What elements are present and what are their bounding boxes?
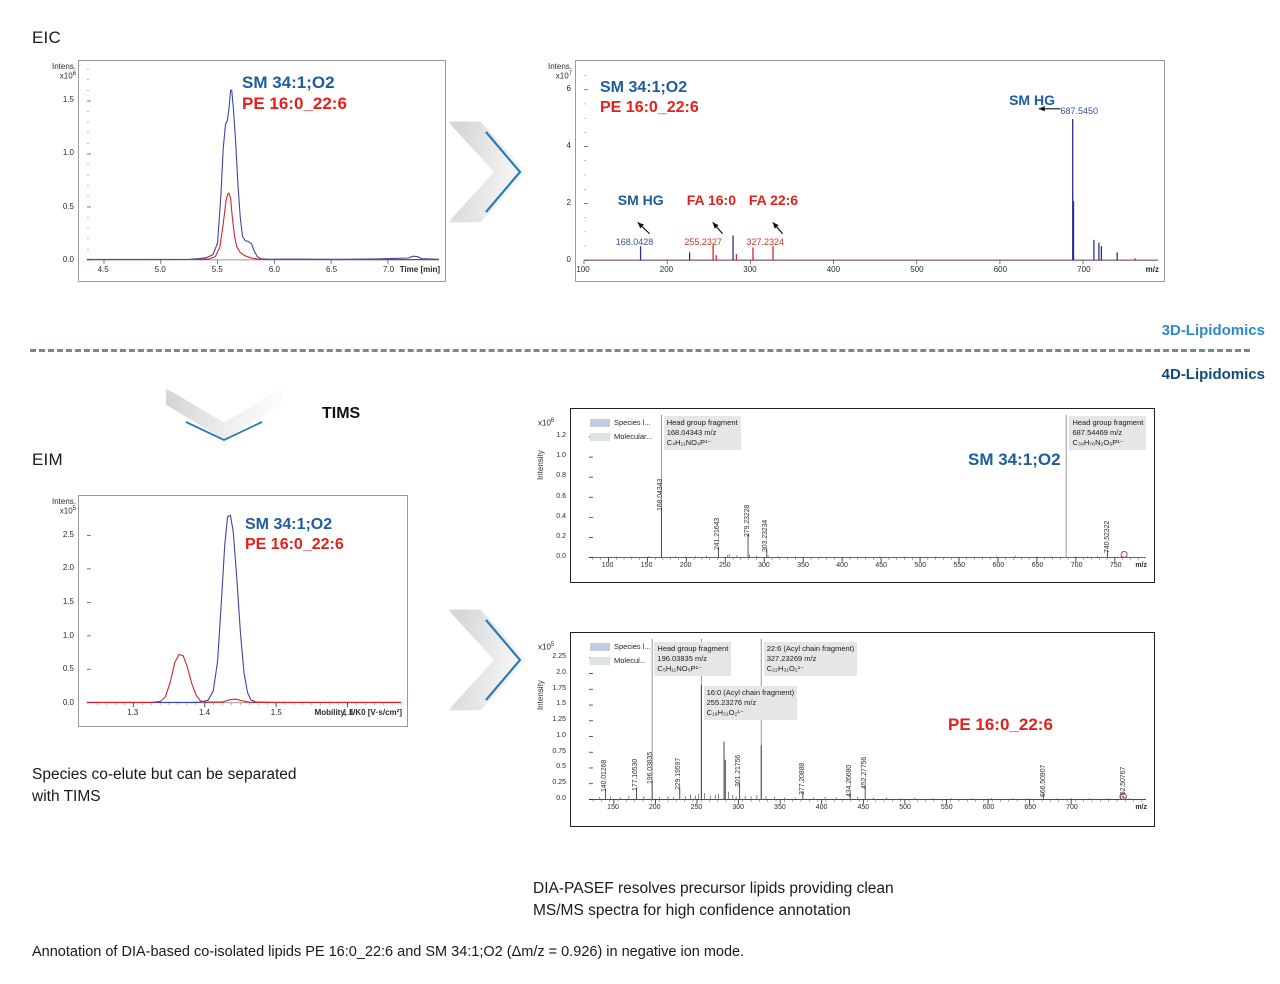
pe-xtick-450: 450 bbox=[851, 804, 875, 811]
pe-xtick-400: 400 bbox=[810, 804, 834, 811]
ms-yaxis-label: Intens. bbox=[548, 62, 572, 71]
ms-annotation-label-2: FA 22:6 bbox=[749, 192, 798, 208]
chevron-down-tims bbox=[158, 388, 290, 444]
ms-yaxis-title: Intens. x107 bbox=[530, 62, 572, 81]
chevron-right-bottom-icon bbox=[448, 600, 544, 720]
ms-xaxis-label: m/z bbox=[1125, 265, 1159, 274]
eic-xtick-5.0: 5.0 bbox=[148, 265, 172, 274]
sm-callout-0-formula: C₄H₁₁NO₄P¹⁻ bbox=[667, 438, 738, 448]
pe-peak-label-229.19597: 229.19597 bbox=[675, 758, 682, 790]
sm-ytick-1.2: 1.2 bbox=[550, 432, 566, 439]
eim-yaxis-exp: 5 bbox=[73, 506, 76, 512]
eim-chart-panel bbox=[78, 495, 408, 727]
eim-xtick-1.3: 1.3 bbox=[121, 708, 145, 717]
eic-xtick-4.5: 4.5 bbox=[91, 265, 115, 274]
ms-species-sm: SM 34:1;O2 bbox=[600, 78, 699, 98]
sm-yaxis-label: Intensity bbox=[536, 450, 545, 480]
pe-peak-label-762.50767: 762.50767 bbox=[1120, 767, 1127, 799]
eic-yaxis-exp: 6 bbox=[73, 71, 76, 77]
pe-ytick-1.5: 1.5 bbox=[546, 700, 566, 707]
pe-xtick-600: 600 bbox=[976, 804, 1000, 811]
eim-ytick-1.5: 1.5 bbox=[50, 597, 74, 606]
pe-yaxis-label: Intensity bbox=[536, 680, 545, 710]
pe-yaxis-unit: x10 bbox=[538, 643, 551, 652]
pe-xtick-650: 650 bbox=[1018, 804, 1042, 811]
sm-xtick-200: 200 bbox=[674, 562, 698, 569]
ms-species-legend: SM 34:1;O2 PE 16:0_22:6 bbox=[600, 78, 699, 119]
sm-callout-1-formula: C₃₈H₇₆N₂O₆P¹⁻ bbox=[1072, 438, 1143, 448]
tims-label: TIMS bbox=[322, 405, 360, 423]
sm-peak-label-279.23228: 279.23228 bbox=[744, 505, 751, 537]
pe-xtick-500: 500 bbox=[893, 804, 917, 811]
ms-xtick-100: 100 bbox=[569, 265, 597, 274]
ms-xtick-300: 300 bbox=[736, 265, 764, 274]
pe-xtick-550: 550 bbox=[935, 804, 959, 811]
sm-peak-label-740.52322: 740.52322 bbox=[1104, 521, 1111, 553]
eim-species-legend: SM 34:1;O2 PE 16:0_22:6 bbox=[245, 515, 344, 555]
sm-callout-1-mz: 687.54469 m/z bbox=[1072, 428, 1143, 438]
eim-ytick-1.0: 1.0 bbox=[50, 631, 74, 640]
ms-annotation-mz-2: 327.2324 bbox=[746, 237, 784, 247]
pe-msms-species-label: PE 16:0_22:6 bbox=[948, 715, 1053, 735]
ms-yaxis-unit: x10 bbox=[556, 72, 569, 81]
pe-legend-label-species: Species l... bbox=[614, 642, 651, 651]
pe-yaxis-unit-wrap: x105 bbox=[538, 642, 554, 652]
eim-ytick-2.0: 2.0 bbox=[50, 563, 74, 572]
sm-legend-row-species: Species l... bbox=[590, 418, 651, 427]
sm-yaxis-unit: x10 bbox=[538, 419, 551, 428]
sm-xtick-400: 400 bbox=[830, 562, 854, 569]
pe-peak-label-452.27756: 452.27756 bbox=[861, 757, 868, 789]
eic-yaxis-unit: x10 bbox=[60, 72, 73, 81]
sm-peak-label-241.21643: 241.21643 bbox=[714, 518, 721, 550]
sm-xtick-600: 600 bbox=[986, 562, 1010, 569]
eic-xaxis-label: Time [min] bbox=[388, 265, 440, 274]
sm-yaxis-unit-wrap: x106 bbox=[538, 418, 554, 428]
eim-ytick-0.5: 0.5 bbox=[50, 664, 74, 673]
sm-callout-0-title: Head group fragment bbox=[667, 418, 738, 428]
pe-ytick-1.25: 1.25 bbox=[546, 716, 566, 723]
ms-ytick-4: 4 bbox=[553, 141, 571, 150]
sm-ytick-0.4: 0.4 bbox=[550, 513, 566, 520]
figure-caption: Annotation of DIA-based co-isolated lipi… bbox=[32, 944, 1232, 960]
ms-annotation-mz-3: 687.5450 bbox=[1060, 106, 1098, 116]
eic-species-legend: SM 34:1;O2 PE 16:0_22:6 bbox=[242, 72, 347, 115]
eim-xaxis-label: Mobility, 1/K0 [V·s/cm²] bbox=[258, 708, 402, 717]
pe-ytick-0.0: 0.0 bbox=[546, 795, 566, 802]
sm-ytick-0.0: 0.0 bbox=[550, 553, 566, 560]
pe-xtick-150: 150 bbox=[601, 804, 625, 811]
pe-legend-swatch-species bbox=[590, 643, 610, 651]
sm-ytick-1.0: 1.0 bbox=[550, 452, 566, 459]
sm-xtick-650: 650 bbox=[1026, 562, 1050, 569]
eim-species-sm: SM 34:1;O2 bbox=[245, 515, 344, 535]
sm-legend-swatch-molecular bbox=[590, 433, 610, 441]
pe-ytick-2.25: 2.25 bbox=[546, 653, 566, 660]
section-label-eim: EIM bbox=[32, 450, 63, 470]
pe-peak-label-196.03835: 196.03835 bbox=[647, 752, 654, 784]
section-divider bbox=[30, 349, 1250, 352]
pe-legend-row-molecular: Molecul... bbox=[590, 656, 646, 665]
pe-xtick-700: 700 bbox=[1060, 804, 1084, 811]
sm-xtick-250: 250 bbox=[713, 562, 737, 569]
eim-species-pe: PE 16:0_22:6 bbox=[245, 535, 344, 555]
ms-species-pe: PE 16:0_22:6 bbox=[600, 98, 699, 118]
sm-legend-swatch-species bbox=[590, 419, 610, 427]
chevron-right-top bbox=[448, 112, 544, 232]
sm-xtick-150: 150 bbox=[635, 562, 659, 569]
ms-xtick-700: 700 bbox=[1070, 265, 1098, 274]
ms-annotation-mz-0: 168.0428 bbox=[616, 237, 654, 247]
eim-xtick-1.4: 1.4 bbox=[193, 708, 217, 717]
ms-annotation-label-1: FA 16:0 bbox=[687, 192, 736, 208]
eic-xtick-5.5: 5.5 bbox=[205, 265, 229, 274]
ms-yaxis-exp: 7 bbox=[569, 71, 572, 77]
pe-xtick-250: 250 bbox=[684, 804, 708, 811]
sm-peak-label-303.23234: 303.23234 bbox=[762, 520, 769, 552]
sm-yaxis-exp: 6 bbox=[551, 418, 554, 424]
note-right-line1: DIA-PASEF resolves precursor lipids prov… bbox=[533, 878, 1133, 900]
note-left: Species co-elute but can be separated wi… bbox=[32, 764, 432, 809]
sm-ytick-0.8: 0.8 bbox=[550, 472, 566, 479]
pe-peak-label-301.21756: 301.21756 bbox=[735, 754, 742, 786]
sm-ytick-0.6: 0.6 bbox=[550, 493, 566, 500]
ms-xtick-500: 500 bbox=[903, 265, 931, 274]
sm-ytick-0.2: 0.2 bbox=[550, 533, 566, 540]
sm-callout-1-title: Head group fragment bbox=[1072, 418, 1143, 428]
eim-yaxis-unit: x10 bbox=[60, 507, 73, 516]
pe-ytick-1.75: 1.75 bbox=[546, 685, 566, 692]
pe-peak-label-140.01268: 140.01268 bbox=[601, 760, 608, 792]
chevron-right-top-icon bbox=[448, 112, 544, 232]
pe-ytick-0.75: 0.75 bbox=[546, 748, 566, 755]
sm-legend-row-molecular: Molecular... bbox=[590, 432, 652, 441]
sm-xtick-700: 700 bbox=[1065, 562, 1089, 569]
label-3d-lipidomics: 3D-Lipidomics bbox=[1162, 322, 1265, 339]
eic-yaxis-label: Intens. bbox=[52, 62, 76, 71]
ms-annotation-label-3: SM HG bbox=[1009, 92, 1055, 108]
ms-xtick-200: 200 bbox=[652, 265, 680, 274]
ms-ytick-2: 2 bbox=[553, 198, 571, 207]
pe-ytick-0.5: 0.5 bbox=[546, 763, 566, 770]
sm-xtick-350: 350 bbox=[791, 562, 815, 569]
note-right: DIA-PASEF resolves precursor lipids prov… bbox=[533, 878, 1133, 923]
eim-yaxis-title: Intens. x105 bbox=[36, 497, 76, 516]
label-3d-lipidomics-wrap: 3D-Lipidomics bbox=[1085, 322, 1265, 340]
chevron-down-tims-icon bbox=[158, 388, 290, 444]
pe-xtick-200: 200 bbox=[643, 804, 667, 811]
pe-peak-label-434.26680: 434.26680 bbox=[846, 764, 853, 796]
sm-xtick-100: 100 bbox=[596, 562, 620, 569]
eic-ytick-0.0: 0.0 bbox=[50, 255, 74, 264]
eim-yaxis-label: Intens. bbox=[52, 497, 76, 506]
sm-callout-0-mz: 168.04343 m/z bbox=[667, 428, 738, 438]
eic-species-pe: PE 16:0_22:6 bbox=[242, 93, 347, 114]
eim-plot-svg bbox=[79, 496, 407, 727]
sm-legend-label-molecular: Molecular... bbox=[614, 432, 652, 441]
eic-ytick-1.5: 1.5 bbox=[50, 95, 74, 104]
ms-xtick-600: 600 bbox=[986, 265, 1014, 274]
sm-msms-species-label: SM 34:1;O2 bbox=[968, 450, 1061, 470]
ms-ytick-6: 6 bbox=[553, 84, 571, 93]
pe-ytick-2.0: 2.0 bbox=[546, 669, 566, 676]
eic-ytick-0.5: 0.5 bbox=[50, 202, 74, 211]
eim-ytick-2.5: 2.5 bbox=[50, 530, 74, 539]
chevron-right-bottom bbox=[448, 600, 544, 720]
eic-ytick-1.0: 1.0 bbox=[50, 148, 74, 157]
sm-xtick-450: 450 bbox=[869, 562, 893, 569]
eic-species-sm: SM 34:1;O2 bbox=[242, 72, 347, 93]
pe-ytick-0.25: 0.25 bbox=[546, 779, 566, 786]
pe-callout-2: 16:0 (Acyl chain fragment)255.23276 m/zC… bbox=[704, 686, 798, 720]
sm-xtick-550: 550 bbox=[947, 562, 971, 569]
pe-xtick-300: 300 bbox=[726, 804, 750, 811]
eic-yaxis-title: Intens. x106 bbox=[36, 62, 76, 81]
sm-xaxis-label: m/z bbox=[1119, 562, 1147, 569]
pe-legend-row-species: Species l... bbox=[590, 642, 651, 651]
pe-legend-label-molecular: Molecul... bbox=[614, 656, 646, 665]
eic-xtick-6.0: 6.0 bbox=[262, 265, 286, 274]
ms-xtick-400: 400 bbox=[819, 265, 847, 274]
section-label-eic: EIC bbox=[32, 28, 61, 48]
pe-xaxis-label: m/z bbox=[1119, 804, 1147, 811]
ms-annotation-mz-1: 255.2327 bbox=[684, 237, 722, 247]
label-4d-lipidomics: 4D-Lipidomics bbox=[1162, 366, 1265, 383]
sm-callout-0: Head group fragment168.04343 m/zC₄H₁₁NO₄… bbox=[664, 416, 741, 450]
pe-yaxis-exp: 5 bbox=[551, 642, 554, 648]
sm-peak-label-168.04343: 168.04343 bbox=[657, 478, 664, 510]
eic-xtick-6.5: 6.5 bbox=[320, 265, 344, 274]
sm-legend-label-species: Species l... bbox=[614, 418, 651, 427]
note-left-line1: Species co-elute but can be separated bbox=[32, 764, 432, 786]
eim-ytick-0.0: 0.0 bbox=[50, 698, 74, 707]
note-left-line2: with TIMS bbox=[32, 786, 432, 808]
note-right-line2: MS/MS spectra for high confidence annota… bbox=[533, 900, 1133, 922]
sm-xtick-300: 300 bbox=[752, 562, 776, 569]
sm-callout-1: Head group fragment687.54469 m/zC₃₈H₇₆N₂… bbox=[1069, 416, 1146, 450]
sm-xtick-500: 500 bbox=[908, 562, 932, 569]
pe-callout-0: Head group fragment196.03835 m/zC₅H₁₁NO₅… bbox=[654, 642, 731, 676]
label-4d-lipidomics-wrap: 4D-Lipidomics bbox=[1085, 366, 1265, 384]
pe-xtick-350: 350 bbox=[768, 804, 792, 811]
pe-peak-label-177.16530: 177.16530 bbox=[632, 759, 639, 791]
ms-annotation-label-0: SM HG bbox=[618, 192, 664, 208]
pe-legend-swatch-molecular bbox=[590, 657, 610, 665]
pe-peak-label-666.50907: 666.50907 bbox=[1040, 765, 1047, 797]
pe-peak-label-377.20888: 377.20888 bbox=[799, 763, 806, 795]
ms-ytick-0: 0 bbox=[553, 255, 571, 264]
pe-callout-1: 22:6 (Acyl chain fragment)327.23269 m/zC… bbox=[764, 642, 858, 676]
pe-ytick-1.0: 1.0 bbox=[546, 732, 566, 739]
